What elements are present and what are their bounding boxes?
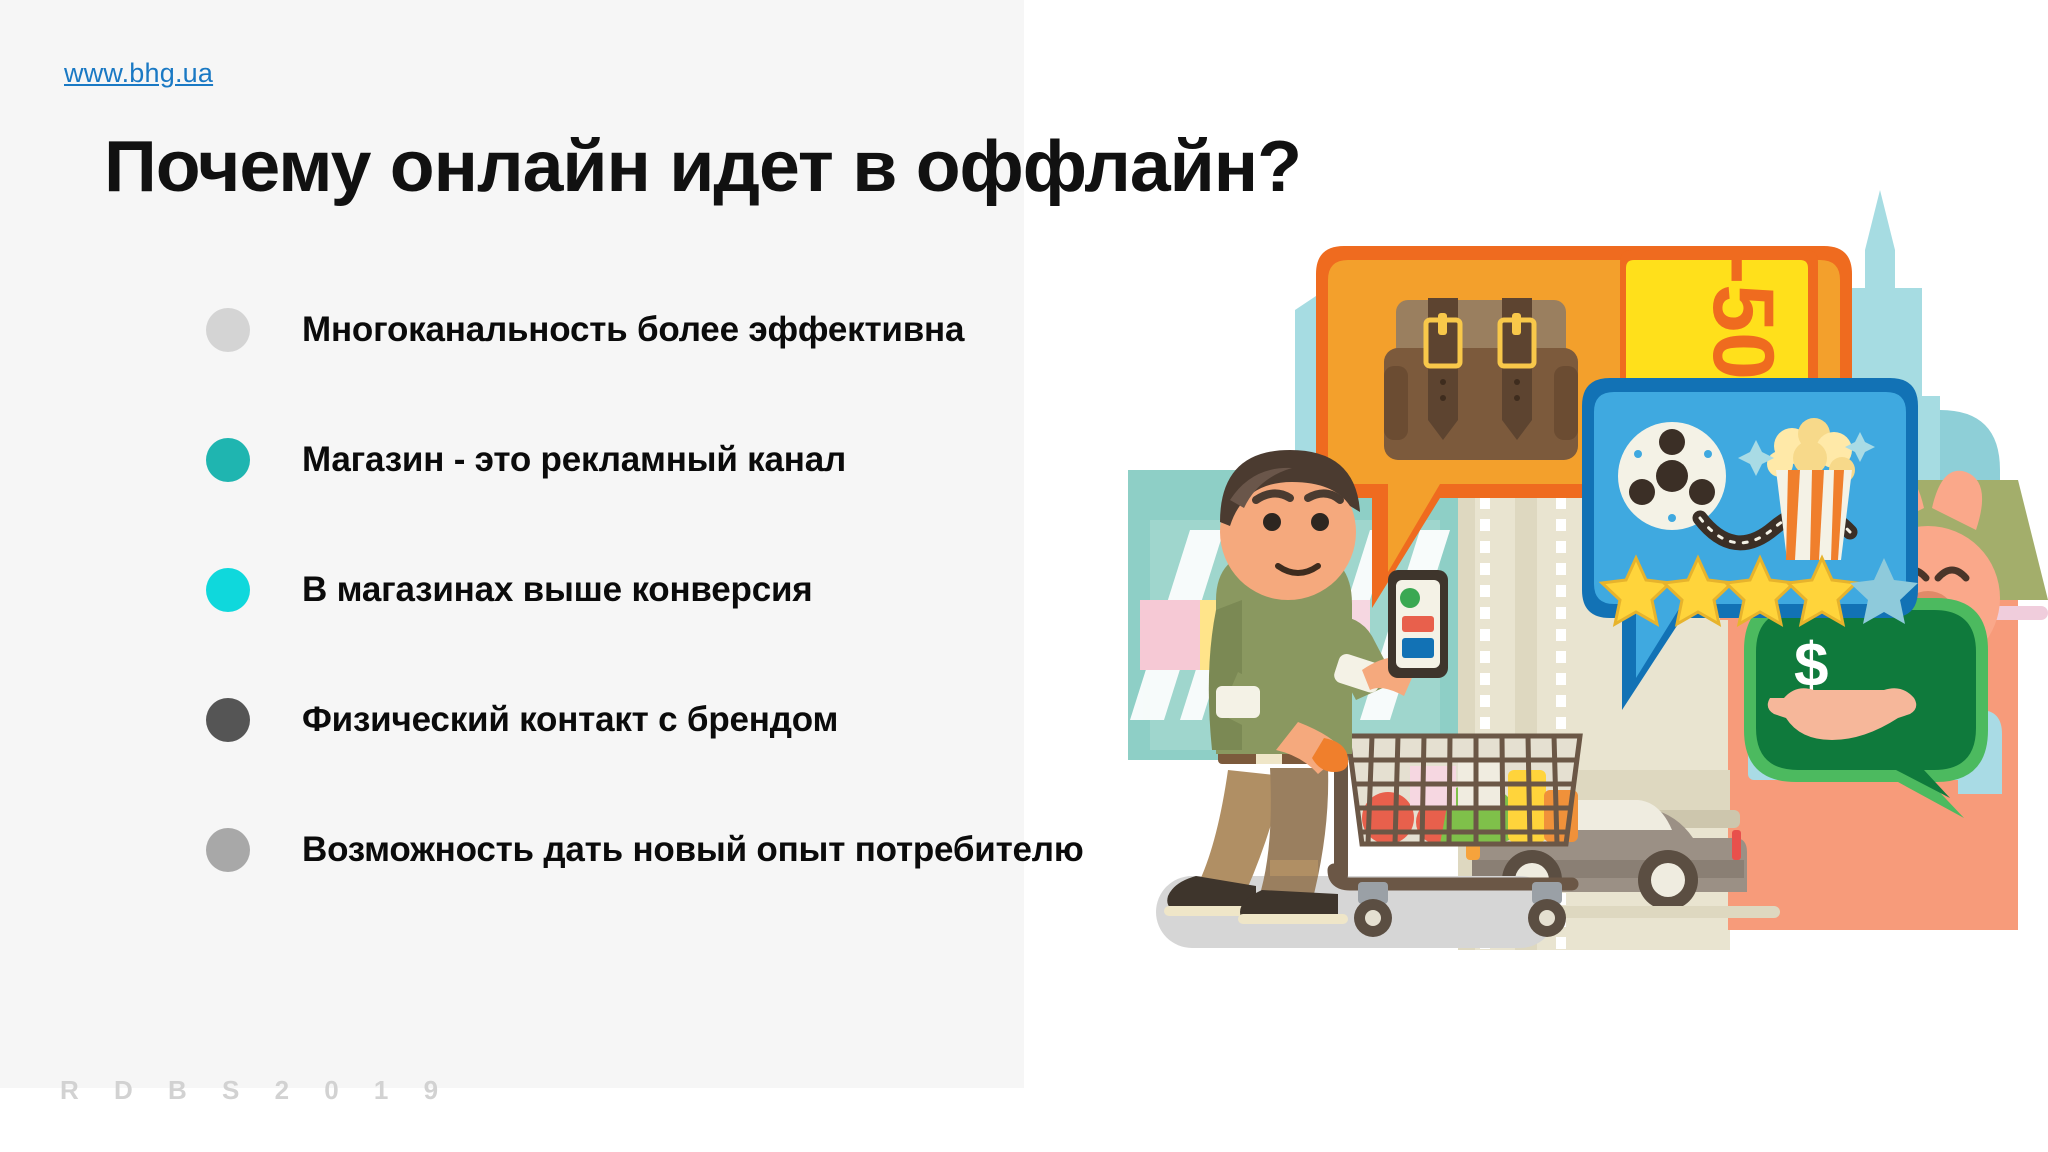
website-link[interactable]: www.bhg.ua <box>64 58 213 89</box>
illustration-online-to-offline: $ MOVIE <box>1120 170 2048 990</box>
bullet-dot-icon <box>206 438 250 482</box>
bullet-dot-icon <box>206 828 250 872</box>
slide-canvas: www.bhg.ua Почему онлайн идет в оффлайн?… <box>0 0 2048 1152</box>
list-item[interactable]: В магазинах выше конверсия <box>206 560 813 620</box>
backpack-icon <box>1384 298 1578 460</box>
list-item-label: Многоканальность более эффективна <box>302 310 964 350</box>
list-item-label: Физический контакт с брендом <box>302 700 838 740</box>
bullet-dot-icon <box>206 308 250 352</box>
footer-brand-year: R D B S 2 0 1 9 <box>60 1075 452 1106</box>
list-item-label: Магазин - это рекламный канал <box>302 440 846 480</box>
list-item[interactable]: Физический контакт с брендом <box>206 690 838 750</box>
bullet-dot-icon <box>206 698 250 742</box>
list-item[interactable]: Возможность дать новый опыт потребителю <box>206 820 1084 880</box>
list-item[interactable]: Магазин - это рекламный канал <box>206 430 846 490</box>
bullet-dot-icon <box>206 568 250 612</box>
list-item[interactable]: Многоканальность более эффективна <box>206 300 964 360</box>
list-item-label: Возможность дать новый опыт потребителю <box>302 830 1084 870</box>
film-reel-icon <box>1618 422 1726 530</box>
list-item-label: В магазинах выше конверсия <box>302 570 813 610</box>
